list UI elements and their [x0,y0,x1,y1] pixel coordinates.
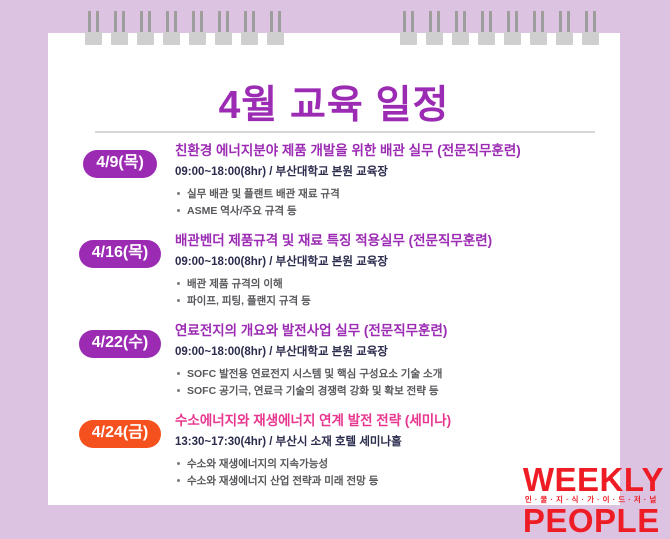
spiral-ring-icon [530,11,547,45]
date-badge[interactable]: 4/22(수) [79,330,162,358]
spiral-ring-icon [267,11,284,45]
bullet-item: SOFC 공기극, 연료극 기술의 경쟁력 강화 및 확보 전략 등 [175,383,612,399]
entry-title: 배관벤더 제품규격 및 재료 특징 적용실무 (전문직무훈련) [175,233,612,250]
entry-bullets: SOFC 발전용 연료전지 시스템 및 핵심 구성요소 기술 소개 SOFC 공… [175,366,612,399]
weekly-people-logo: WEEKLY 인 · 물 · 지 · 식 · 가 · 이 · 드 · 저 · 널… [523,465,664,536]
entry-meta: 09:00~18:00(8hr) / 부산대학교 본원 교육장 [175,345,612,359]
date-badge-wrap: 4/9(목) [65,140,175,178]
poster-canvas: 4월 교육 일정 4/9(목) 친환경 에너지분야 제품 개발을 위한 배관 실… [0,0,670,539]
entry-title: 연료전지의 개요와 발전사업 실무 (전문직무훈련) [175,323,612,340]
bullet-item: 배관 제품 규격의 이해 [175,276,612,292]
spiral-ring-icon [452,11,469,45]
entry-title: 친환경 에너지분야 제품 개발을 위한 배관 실무 (전문직무훈련) [175,143,612,160]
date-badge-wrap: 4/16(목) [65,230,175,268]
entry-title: 수소에너지와 재생에너지 연계 발전 전략 (세미나) [175,413,612,430]
spiral-ring-icon [241,11,258,45]
schedule-list: 4/9(목) 친환경 에너지분야 제품 개발을 위한 배관 실무 (전문직무훈련… [48,140,620,500]
spiral-ring-icon [556,11,573,45]
entry-meta: 09:00~18:00(8hr) / 부산대학교 본원 교육장 [175,255,612,269]
spiral-ring-icon [426,11,443,45]
spiral-ring-icon [504,11,521,45]
logo-word-people: PEOPLE [523,506,664,536]
spiral-ring-icon [582,11,599,45]
entry-body: 친환경 에너지분야 제품 개발을 위한 배관 실무 (전문직무훈련) 09:00… [175,140,620,219]
spiral-ring-icon [400,11,417,45]
entry-meta: 13:30~17:30(4hr) / 부산시 소재 호텔 세미나홀 [175,435,612,449]
bullet-item: 파이프, 피팅, 플랜지 규격 등 [175,293,612,309]
entry-body: 연료전지의 개요와 발전사업 실무 (전문직무훈련) 09:00~18:00(8… [175,320,620,399]
spiral-ring-icon [215,11,232,45]
schedule-entry: 4/22(수) 연료전지의 개요와 발전사업 실무 (전문직무훈련) 09:00… [48,320,620,410]
logo-word-weekly: WEEKLY [523,465,664,495]
entry-bullets: 배관 제품 규격의 이해 파이프, 피팅, 플랜지 규격 등 [175,276,612,309]
title-divider [95,131,595,133]
bullet-item: ASME 역사/주요 규격 등 [175,203,612,219]
date-badge-wrap: 4/22(수) [65,320,175,358]
spiral-ring-icon [111,11,128,45]
date-badge-wrap: 4/24(금) [65,410,175,448]
spiral-ring-icon [163,11,180,45]
schedule-entry: 4/9(목) 친환경 에너지분야 제품 개발을 위한 배관 실무 (전문직무훈련… [48,140,620,230]
page-title: 4월 교육 일정 [48,86,620,125]
bullet-item: SOFC 발전용 연료전지 시스템 및 핵심 구성요소 기술 소개 [175,366,612,382]
schedule-entry: 4/16(목) 배관벤더 제품규격 및 재료 특징 적용실무 (전문직무훈련) … [48,230,620,320]
date-badge[interactable]: 4/16(목) [79,240,162,268]
entry-body: 배관벤더 제품규격 및 재료 특징 적용실무 (전문직무훈련) 09:00~18… [175,230,620,309]
spiral-ring-icon [189,11,206,45]
spiral-ring-icon [137,11,154,45]
spiral-ring-icon [85,11,102,45]
spiral-ring-icon [478,11,495,45]
date-badge[interactable]: 4/24(금) [79,420,162,448]
entry-bullets: 실무 배관 및 플랜트 배관 재료 규격 ASME 역사/주요 규격 등 [175,186,612,219]
bullet-item: 실무 배관 및 플랜트 배관 재료 규격 [175,186,612,202]
entry-meta: 09:00~18:00(8hr) / 부산대학교 본원 교육장 [175,165,612,179]
date-badge[interactable]: 4/9(목) [83,150,157,178]
notepad-page: 4월 교육 일정 4/9(목) 친환경 에너지분야 제품 개발을 위한 배관 실… [48,33,620,505]
